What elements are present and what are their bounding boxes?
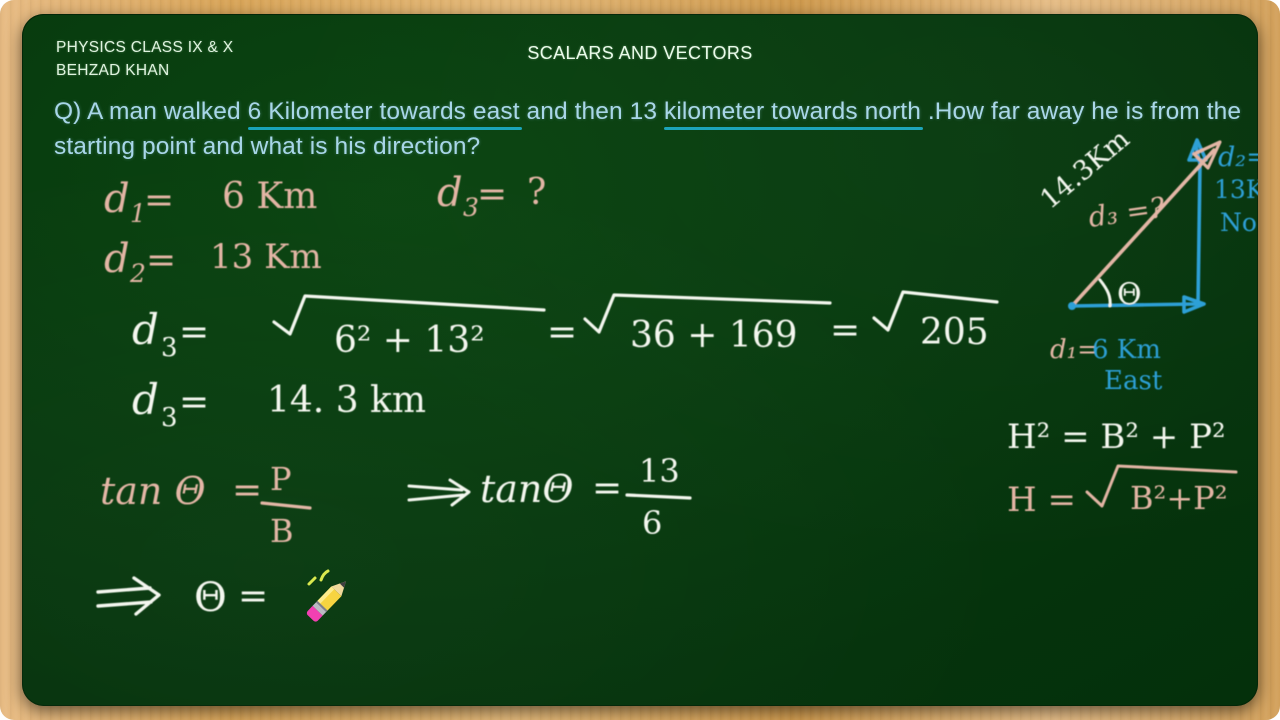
given-d2: d 2 = 13 Km bbox=[104, 236, 322, 288]
label-vertical-symbol: d₂= bbox=[1218, 142, 1258, 173]
given-d3-equals: = bbox=[477, 174, 507, 215]
label-angle-theta: Θ bbox=[1117, 277, 1142, 312]
implies-arrow-1 bbox=[409, 480, 469, 505]
given-d3-unknown: d 3 = ? bbox=[437, 170, 546, 222]
formula-hypotenuse-radicand: B²+P² bbox=[1130, 479, 1228, 517]
pythagoras-lhs: d bbox=[132, 305, 159, 354]
label-vertical-value: 13Km bbox=[1214, 175, 1258, 204]
tan-pb-lhs: tan Θ bbox=[100, 469, 206, 513]
theta-lhs: Θ bbox=[194, 575, 227, 621]
pencil-lead-mark-1 bbox=[309, 578, 315, 584]
label-vertical-direction: No bbox=[1220, 208, 1257, 237]
given-d2-equals: = bbox=[146, 240, 176, 281]
tan-num-lhs: tanΘ bbox=[480, 467, 574, 511]
given-d2-value: 13 Km bbox=[210, 237, 322, 277]
pencil-body bbox=[306, 576, 351, 622]
formula-pythagoras: H² = B² + P² bbox=[1007, 417, 1226, 457]
equation-tan-pb: tan Θ = P B bbox=[100, 460, 310, 550]
given-d2-subscript: 2 bbox=[129, 259, 146, 288]
label-base-direction: East bbox=[1104, 366, 1163, 396]
label-base-value: 6 Km bbox=[1092, 335, 1161, 365]
tan-num-numerator: 13 bbox=[639, 452, 680, 490]
handwriting-layer: d 1 = 6 Km d 3 = ? d 2 = 13 Km bbox=[22, 14, 1258, 706]
tan-num-denominator: 6 bbox=[642, 504, 662, 542]
formula-hypotenuse-lhs: H = bbox=[1007, 480, 1076, 520]
pythagoras-lhs-subscript: 3 bbox=[161, 333, 178, 363]
equation-pythagoras: d 3 = 6² + 13² = 36 + 169 = 205 bbox=[132, 292, 997, 363]
theta-equals: = bbox=[238, 576, 268, 617]
tan-num-equals: = bbox=[592, 468, 622, 509]
tan-pb-numerator: P bbox=[270, 460, 292, 498]
pythagoras-radicand-2: 36 + 169 bbox=[630, 315, 798, 356]
tan-pb-denominator: B bbox=[270, 512, 294, 550]
tan-pb-equals: = bbox=[232, 470, 262, 511]
result-value: 14. 3 km bbox=[267, 380, 426, 421]
result-lhs: d bbox=[132, 375, 159, 424]
angle-arc bbox=[1100, 280, 1110, 306]
pythagoras-equals-1: = bbox=[179, 312, 209, 353]
pythagoras-equals-3: = bbox=[830, 310, 860, 351]
given-d1: d 1 = 6 Km bbox=[104, 176, 317, 228]
label-hypotenuse-symbol: d₃ =? bbox=[1086, 190, 1167, 233]
pythagoras-equals-2: = bbox=[547, 312, 577, 353]
given-d2-label: d bbox=[104, 236, 130, 282]
equation-theta: Θ = bbox=[194, 575, 268, 621]
vector-diagram: 14.3Km d₃ =? d₂= 13Km No d₁= 6 Km East Θ bbox=[1035, 124, 1258, 396]
result-lhs-subscript: 3 bbox=[161, 403, 178, 433]
given-d3-label: d bbox=[437, 170, 463, 216]
result-equals: = bbox=[179, 382, 209, 423]
chalkboard-frame: PHYSICS CLASS IX & X BEHZAD KHAN SCALARS… bbox=[0, 0, 1280, 720]
pencil-lead-mark-2 bbox=[321, 571, 328, 580]
origin-point bbox=[1068, 302, 1076, 310]
pencil-cursor[interactable] bbox=[305, 570, 351, 626]
given-d1-label: d bbox=[104, 176, 130, 222]
given-d3-value: ? bbox=[527, 172, 546, 213]
given-d1-value: 6 Km bbox=[222, 176, 317, 217]
formula-reference: H² = B² + P² H = B²+P² bbox=[1007, 417, 1236, 520]
equation-tan-numeric: tanΘ = 13 6 bbox=[480, 452, 690, 542]
chalkboard: PHYSICS CLASS IX & X BEHZAD KHAN SCALARS… bbox=[22, 14, 1258, 706]
pythagoras-radicand-1: 6² + 13² bbox=[334, 320, 485, 361]
implies-arrow-2 bbox=[98, 578, 159, 614]
given-d1-equals: = bbox=[144, 180, 174, 221]
equation-result: d 3 = 14. 3 km bbox=[132, 375, 426, 433]
pythagoras-radicand-3: 205 bbox=[920, 312, 989, 353]
